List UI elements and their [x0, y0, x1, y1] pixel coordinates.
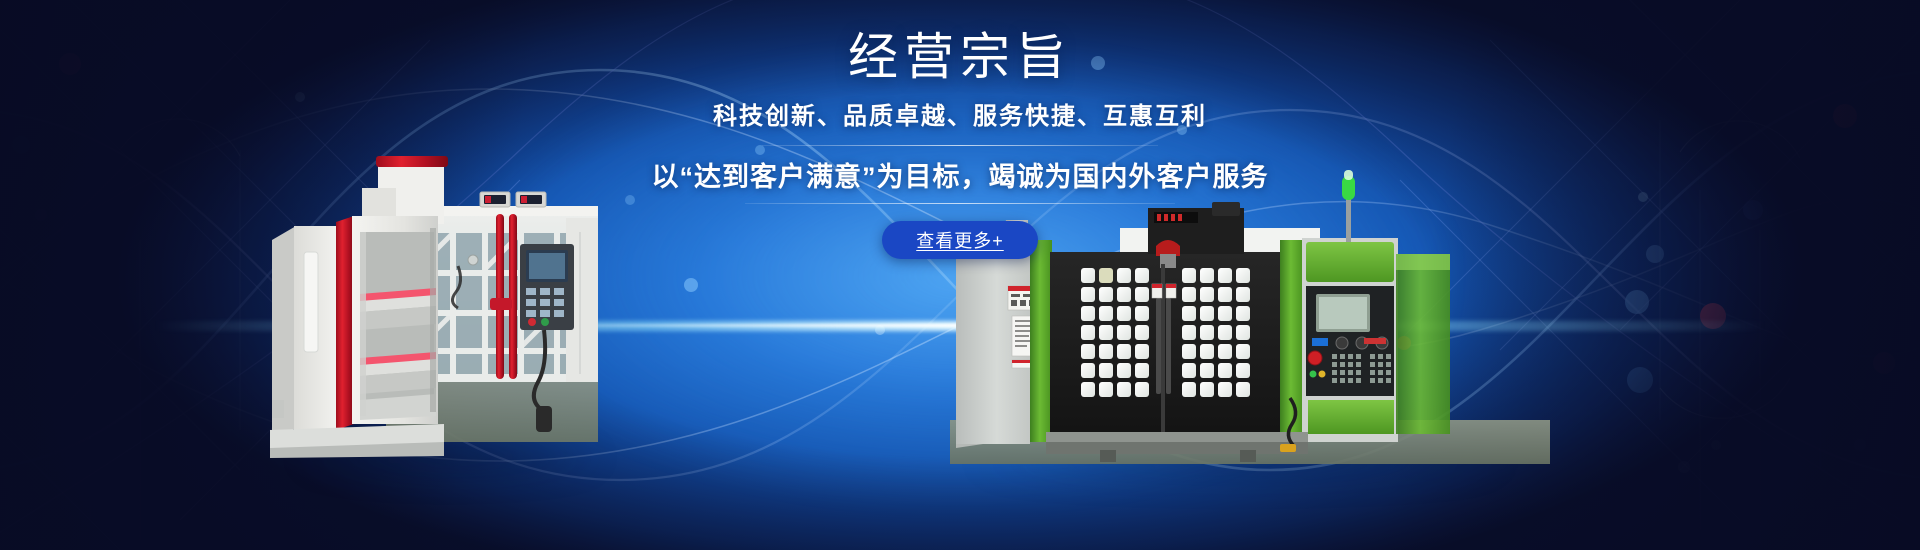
divider-top [762, 145, 1158, 146]
subtitle-primary: 科技创新、品质卓越、服务快捷、互惠互利 [713, 96, 1207, 131]
divider-bottom [745, 203, 1175, 204]
hero-banner: 经营宗旨 科技创新、品质卓越、服务快捷、互惠互利 以“达到客户满意”为目标，竭诚… [0, 0, 1920, 550]
view-more-button[interactable]: 查看更多+ [882, 221, 1038, 259]
view-more-label: 查看更多+ [916, 231, 1004, 251]
banner-text-block: 经营宗旨 科技创新、品质卓越、服务快捷、互惠互利 以“达到客户满意”为目标，竭诚… [0, 0, 1920, 300]
page-title: 经营宗旨 [848, 30, 1072, 84]
subtitle-secondary: 以“达到客户满意”为目标，竭诚为国内外客户服务 [652, 155, 1269, 194]
